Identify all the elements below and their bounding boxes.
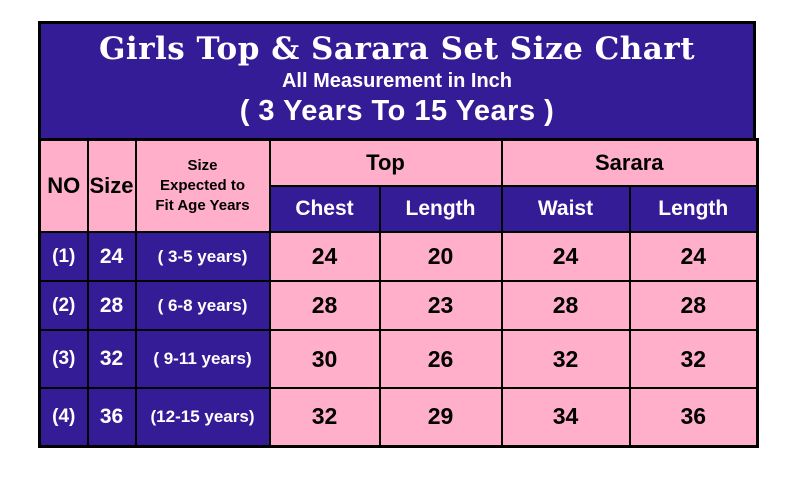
table-row: (2) 28 ( 6-8 years) 28 23 28 28 <box>40 281 758 330</box>
header-sarara-waist: Waist <box>502 186 630 232</box>
header-top-length: Length <box>380 186 502 232</box>
row-top-length: 29 <box>380 388 502 446</box>
title-banner: Girls Top & Sarara Set Size Chart All Me… <box>38 21 756 138</box>
size-chart-root: Girls Top & Sarara Set Size Chart All Me… <box>38 21 756 449</box>
header-row-group: NO Size Size Expected to Fit Age Years T… <box>40 140 758 187</box>
table-body: (1) 24 ( 3-5 years) 24 20 24 24 (2) 28 (… <box>40 232 758 446</box>
row-size: 32 <box>88 330 136 388</box>
row-sarara-waist: 34 <box>502 388 630 446</box>
table-header: NO Size Size Expected to Fit Age Years T… <box>40 140 758 233</box>
header-age-line1: Size <box>137 156 269 176</box>
row-sarara-length: 24 <box>630 232 758 281</box>
row-size: 24 <box>88 232 136 281</box>
row-sarara-length: 36 <box>630 388 758 446</box>
row-sarara-waist: 28 <box>502 281 630 330</box>
row-size: 36 <box>88 388 136 446</box>
chart-subtitle: All Measurement in Inch <box>41 68 753 94</box>
row-age: (12-15 years) <box>136 388 270 446</box>
header-top-chest: Chest <box>270 186 380 232</box>
row-size: 28 <box>88 281 136 330</box>
row-no: (3) <box>40 330 88 388</box>
row-sarara-length: 32 <box>630 330 758 388</box>
row-no: (2) <box>40 281 88 330</box>
row-age: ( 3-5 years) <box>136 232 270 281</box>
header-age-line2: Expected to <box>137 176 269 196</box>
row-age: ( 6-8 years) <box>136 281 270 330</box>
row-no: (1) <box>40 232 88 281</box>
row-top-chest: 24 <box>270 232 380 281</box>
header-group-sarara: Sarara <box>502 140 758 187</box>
header-age-line3: Fit Age Years <box>137 196 269 216</box>
row-top-chest: 28 <box>270 281 380 330</box>
row-sarara-waist: 24 <box>502 232 630 281</box>
row-age: ( 9-11 years) <box>136 330 270 388</box>
header-no: NO <box>40 140 88 233</box>
header-size: Size <box>88 140 136 233</box>
chart-title: Girls Top & Sarara Set Size Chart <box>41 30 753 68</box>
row-no: (4) <box>40 388 88 446</box>
header-group-top: Top <box>270 140 502 187</box>
row-top-length: 23 <box>380 281 502 330</box>
table-row: (1) 24 ( 3-5 years) 24 20 24 24 <box>40 232 758 281</box>
table-row: (4) 36 (12-15 years) 32 29 34 36 <box>40 388 758 446</box>
size-chart-table: NO Size Size Expected to Fit Age Years T… <box>38 138 759 448</box>
row-sarara-waist: 32 <box>502 330 630 388</box>
row-top-length: 20 <box>380 232 502 281</box>
chart-age-range: ( 3 Years To 15 Years ) <box>41 94 753 128</box>
header-sarara-length: Length <box>630 186 758 232</box>
row-top-length: 26 <box>380 330 502 388</box>
table-row: (3) 32 ( 9-11 years) 30 26 32 32 <box>40 330 758 388</box>
row-sarara-length: 28 <box>630 281 758 330</box>
row-top-chest: 32 <box>270 388 380 446</box>
row-top-chest: 30 <box>270 330 380 388</box>
header-age: Size Expected to Fit Age Years <box>136 140 270 233</box>
